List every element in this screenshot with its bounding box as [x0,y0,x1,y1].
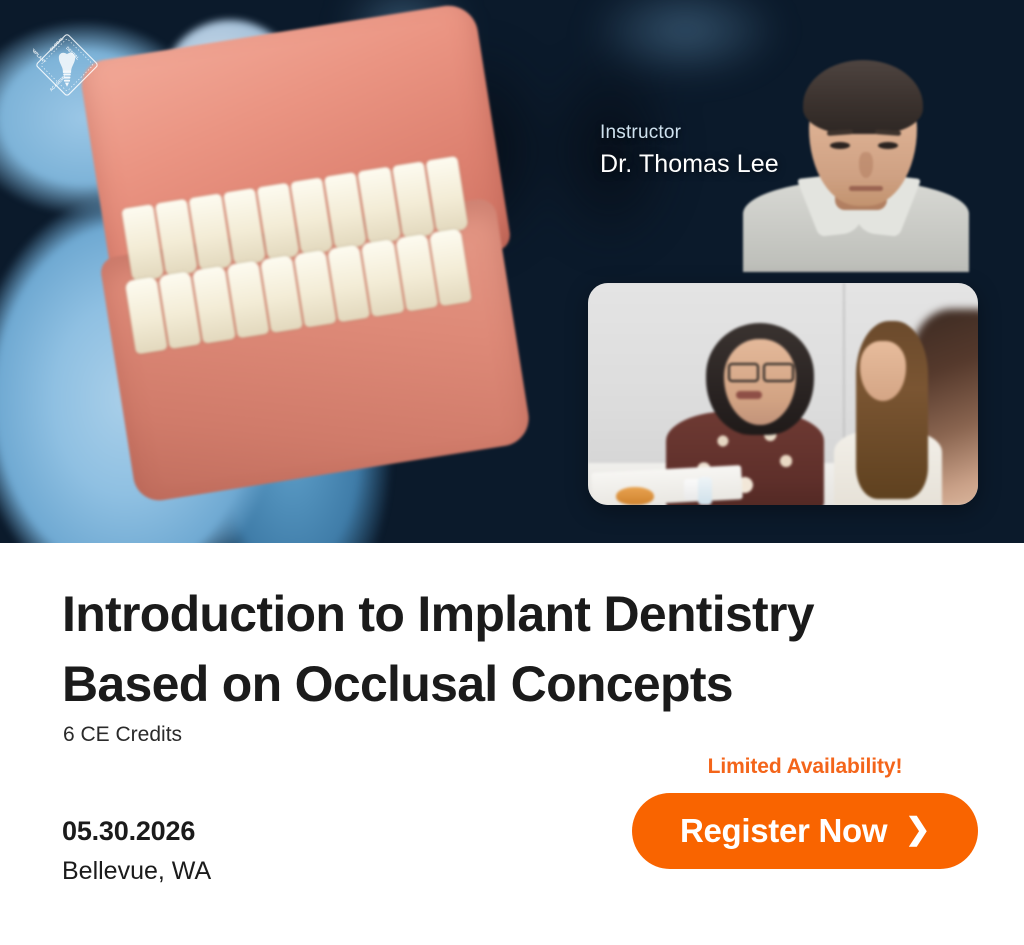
logo-text-academy: ACADEMY [48,74,67,93]
classroom-pastry [616,487,654,505]
instructor-photo [735,34,975,272]
event-date: 05.30.2026 [62,813,211,849]
chevron-right-icon: ❯ [905,815,930,845]
event-location: Bellevue, WA [62,855,211,888]
dental-model [68,0,552,500]
attendee-one-mouth [736,391,762,399]
limited-availability-note: Limited Availability! [632,755,978,779]
course-title-line-2: Based on Occlusal Concepts [62,649,982,719]
instructor-hair [803,60,923,134]
classroom-papers [591,465,743,505]
register-now-button[interactable]: Register Now ❯ [632,793,978,869]
cta-block: Limited Availability! Register Now ❯ [632,755,978,869]
instructor-nose [859,152,873,178]
ce-credits-label: 6 CE Credits [63,723,182,747]
classroom-photo [588,283,978,505]
event-date-block: 05.30.2026 Bellevue, WA [62,813,211,888]
course-promo-card: GLOBAL DENTAL IMPLANT ACADEMY Instructor… [0,0,1024,945]
attendee-one-glasses [726,363,796,378]
hero-banner: GLOBAL DENTAL IMPLANT ACADEMY Instructor… [0,0,1024,543]
register-now-label: Register Now [680,812,887,850]
course-details-panel: Introduction to Implant Dentistry Based … [0,543,1024,945]
instructor-mouth [849,186,883,191]
course-title: Introduction to Implant Dentistry Based … [62,579,982,719]
instructor-eye-right [878,142,898,149]
logo-text-global: GLOBAL [48,36,64,52]
instructor-eye-left [830,142,850,149]
classroom-water-bottle [698,477,712,505]
course-title-line-1: Introduction to Implant Dentistry [62,579,982,649]
academy-logo-icon: GLOBAL DENTAL IMPLANT ACADEMY [33,31,101,99]
